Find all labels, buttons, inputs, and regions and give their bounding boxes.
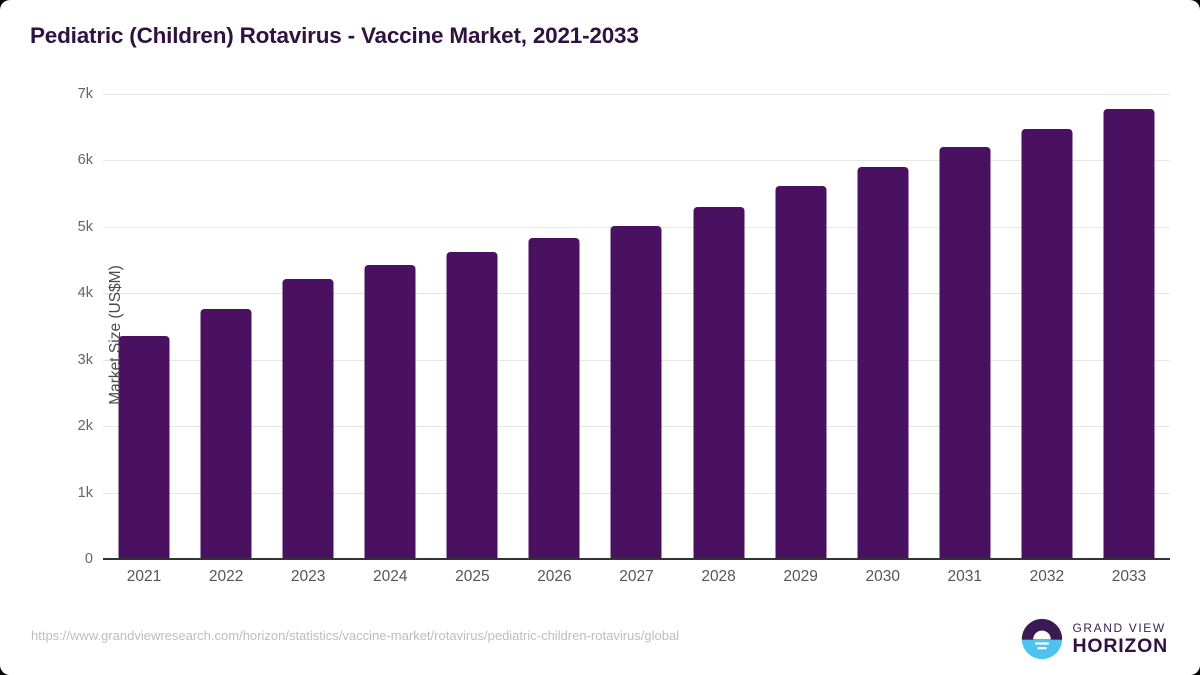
chart-card: Pediatric (Children) Rotavirus - Vaccine… [0,0,1200,675]
bar[interactable] [857,167,908,559]
x-axis-tick-label: 2031 [948,568,982,586]
horizon-sun-circle-icon [1021,618,1063,660]
bar[interactable] [283,279,334,559]
x-axis-tick-label: 2023 [291,568,325,586]
bar-group: 2027 [595,94,677,559]
bar[interactable] [939,147,990,559]
plot-area: 2021202220232024202520262027202820292030… [103,94,1170,559]
bar[interactable] [1021,129,1072,559]
y-axis-tick-label: 7k [33,86,93,102]
bar-group: 2025 [431,94,513,559]
x-axis-tick-label: 2030 [865,568,899,586]
y-axis-tick-label: 4k [33,285,93,301]
bar-group: 2026 [513,94,595,559]
bar-group: 2022 [185,94,267,559]
logo-line-1: GRAND VIEW [1072,622,1168,634]
bar[interactable] [201,309,252,559]
y-axis-tick-label: 0 [33,551,93,567]
y-axis-tick-label: 3k [33,352,93,368]
logo-wordmark: GRAND VIEW HORIZON [1072,622,1168,657]
bar[interactable] [447,252,498,559]
x-axis-tick-label: 2025 [455,568,489,586]
bar[interactable] [611,226,662,559]
x-axis-tick-label: 2024 [373,568,407,586]
y-axis-tick-label: 2k [33,418,93,434]
x-axis-tick-label: 2033 [1112,568,1146,586]
bar[interactable] [365,265,416,559]
bar-group: 2030 [842,94,924,559]
x-axis-line [103,558,1170,560]
bar-group: 2023 [267,94,349,559]
bar-series: 2021202220232024202520262027202820292030… [103,94,1170,559]
source-url[interactable]: https://www.grandviewresearch.com/horizo… [31,628,679,643]
x-axis-tick-label: 2029 [783,568,817,586]
bar-group: 2032 [1006,94,1088,559]
bar[interactable] [119,336,170,559]
x-axis-tick-label: 2032 [1030,568,1064,586]
bar-group: 2024 [349,94,431,559]
bar[interactable] [775,186,826,559]
y-axis-title: Market Size (US$M) [107,155,125,515]
bar-group: 2029 [760,94,842,559]
x-axis-tick-label: 2021 [127,568,161,586]
grand-view-horizon-logo[interactable]: GRAND VIEW HORIZON [1021,617,1168,661]
bar[interactable] [693,207,744,559]
y-axis-tick-label: 5k [33,219,93,235]
x-axis-tick-label: 2022 [209,568,243,586]
x-axis-tick-label: 2028 [701,568,735,586]
bar[interactable] [529,238,580,560]
bar-group: 2033 [1088,94,1170,559]
bar[interactable] [1103,109,1154,559]
logo-line-2: HORIZON [1072,637,1168,657]
y-axis-tick-label: 1k [33,485,93,501]
x-axis-tick-label: 2027 [619,568,653,586]
x-axis-tick-label: 2026 [537,568,571,586]
bar-group: 2031 [924,94,1006,559]
bar-group: 2028 [678,94,760,559]
y-axis-tick-label: 6k [33,152,93,168]
